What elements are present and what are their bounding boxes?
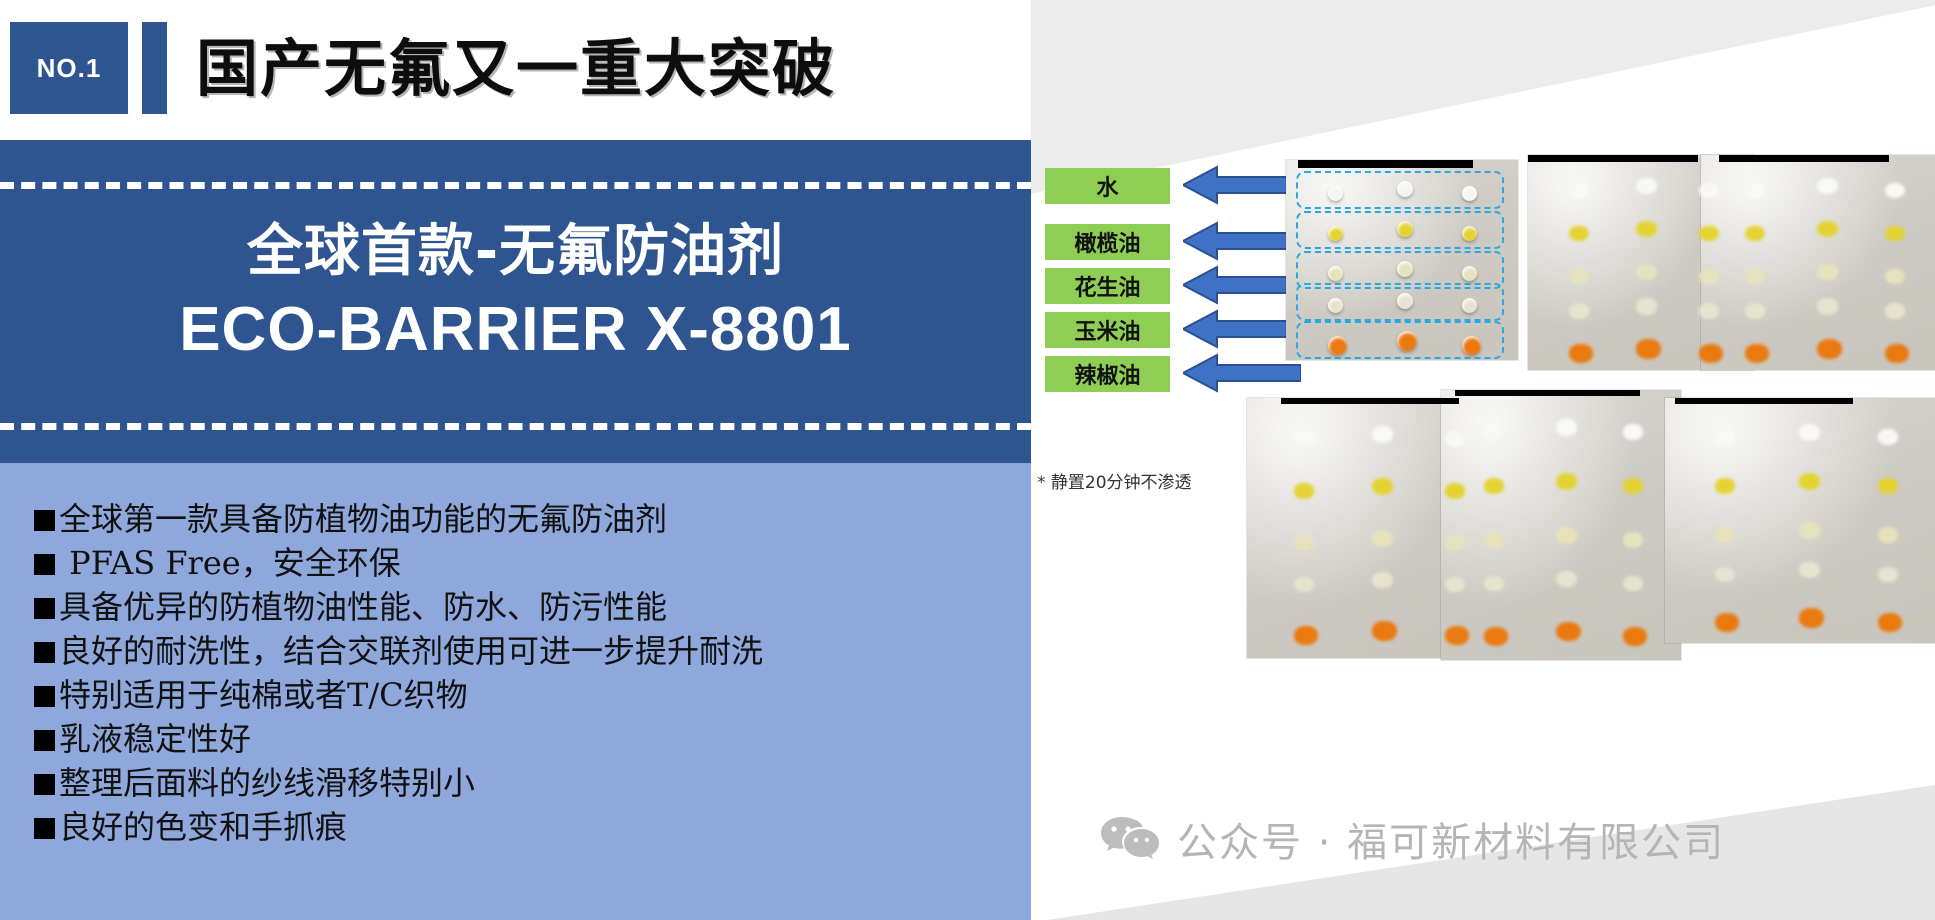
droplet: [1445, 483, 1465, 499]
droplet: [1569, 226, 1589, 242]
droplet: [1799, 522, 1820, 538]
droplet: [1715, 429, 1735, 445]
droplet: [1484, 532, 1504, 548]
test-panel-label: 市售竞品T2: [1455, 390, 1640, 396]
droplet: [1623, 532, 1643, 548]
legend-chip-label: 橄榄油: [1074, 226, 1140, 258]
droplet: [1445, 431, 1465, 447]
droplet: [1294, 431, 1314, 447]
bullet-square-icon: [34, 774, 55, 795]
droplet: [1445, 577, 1465, 593]
banner-line-2: ECO-BARRIER X-8801: [0, 290, 1031, 370]
test-panel: 市售竞品T2: [1441, 390, 1681, 660]
droplet: [1556, 571, 1577, 587]
droplet: [1636, 221, 1657, 237]
test-panel-label: 市售竞品R2: [1719, 155, 1889, 162]
features-panel: 全球第一款具备防植物油功能的无氟防油剂 PFAS Free，安全环保具备优异的防…: [0, 463, 1031, 920]
slide-header: NO.1 国产无氟又一重大突破: [0, 0, 1031, 140]
droplet: [1799, 473, 1820, 489]
test-panel: 市售竞品R2: [1701, 155, 1935, 370]
droplet: [1715, 613, 1739, 632]
test-panel: 市售竞品D1: [1665, 398, 1935, 643]
test-panel-label: 市售竞品T1: [1281, 398, 1459, 404]
highlight-box: [1296, 171, 1504, 209]
droplet: [1294, 577, 1314, 593]
feature-bullet: 良好的耐洗性，结合交联剂使用可进一步提升耐洗: [34, 629, 1014, 673]
droplet: [1294, 483, 1314, 499]
test-panel-label: 防植物油无氟: [1298, 160, 1473, 168]
legend-chip-2[interactable]: 花生油: [1045, 268, 1170, 304]
feature-bullet-label: 良好的耐洗性，结合交联剂使用可进一步提升耐洗: [59, 632, 763, 670]
droplet: [1372, 426, 1393, 442]
highlight-box: [1296, 283, 1504, 321]
droplet: [1569, 183, 1589, 199]
left-column: NO.1 国产无氟又一重大突破 全球首款-无氟防油剂 ECO-BARRIER X…: [0, 0, 1031, 920]
bullet-square-icon: [34, 686, 55, 707]
droplet: [1799, 562, 1820, 578]
droplet: [1569, 303, 1589, 319]
feature-bullet: 特别适用于纯棉或者T/C织物: [34, 673, 1014, 717]
droplet: [1745, 226, 1765, 242]
droplet: [1556, 419, 1577, 435]
droplet: [1885, 303, 1905, 319]
bullet-square-icon: [34, 818, 55, 839]
feature-bullet-label: 具备优异的防植物油性能、防水、防污性能: [59, 588, 667, 626]
droplet: [1445, 626, 1469, 645]
droplet: [1699, 269, 1719, 285]
bullet-square-icon: [34, 730, 55, 751]
droplet: [1556, 473, 1577, 489]
legend-chip-4[interactable]: 辣椒油: [1045, 356, 1170, 392]
droplet: [1878, 613, 1902, 632]
feature-bullet: 全球第一款具备防植物油功能的无氟防油剂: [34, 497, 1014, 541]
droplet: [1885, 183, 1905, 199]
legend-chip-label: 水: [1096, 170, 1118, 202]
droplet: [1817, 178, 1838, 194]
droplet: [1745, 303, 1765, 319]
droplet: [1569, 344, 1593, 363]
droplet: [1699, 344, 1723, 363]
droplet: [1636, 264, 1657, 280]
bullet-square-icon: [34, 554, 55, 575]
droplet: [1715, 478, 1735, 494]
droplet: [1817, 298, 1838, 314]
droplet: [1885, 226, 1905, 242]
droplet: [1372, 478, 1393, 494]
droplet: [1569, 269, 1589, 285]
feature-bullet-label: PFAS Free，安全环保: [59, 544, 401, 582]
droplet: [1636, 339, 1661, 359]
feature-bullet-label: 全球第一款具备防植物油功能的无氟防油剂: [59, 500, 667, 538]
droplet: [1878, 567, 1898, 583]
feature-bullet: 整理后面料的纱线滑移特别小: [34, 761, 1014, 805]
droplet: [1623, 424, 1643, 440]
legend-chip-1[interactable]: 橄榄油: [1045, 224, 1170, 260]
right-column: 水橄榄油花生油玉米油辣椒油 * 静置20分钟不渗透 防植物油无氟市售竞品R1市售…: [1031, 0, 1935, 920]
droplet: [1484, 576, 1504, 592]
droplet: [1715, 527, 1735, 543]
droplet: [1817, 264, 1838, 280]
droplet: [1623, 478, 1643, 494]
droplet: [1878, 527, 1898, 543]
footer-text: 公众号 · 福可新材料有限公司: [1177, 810, 1725, 868]
droplet: [1799, 424, 1820, 440]
legend-chip-label: 辣椒油: [1074, 358, 1140, 390]
droplet: [1484, 627, 1508, 646]
droplet: [1372, 621, 1397, 641]
droplet: [1885, 344, 1909, 363]
test-panel: 防植物油无氟: [1286, 160, 1518, 360]
footnote: * 静置20分钟不渗透: [1037, 468, 1192, 493]
legend-chip-3[interactable]: 玉米油: [1045, 312, 1170, 348]
test-panel-label: 市售竞品R1: [1528, 155, 1698, 162]
feature-bullet: 良好的色变和手抓痕: [34, 805, 1014, 849]
legend-chip-label: 玉米油: [1074, 314, 1140, 346]
droplet: [1799, 608, 1824, 628]
droplet: [1623, 627, 1647, 646]
banner-dash-bottom: [0, 423, 1031, 430]
droplet: [1699, 226, 1719, 242]
droplet: [1484, 424, 1504, 440]
feature-bullet-label: 乳液稳定性好: [59, 720, 251, 758]
legend-chip-0[interactable]: 水: [1045, 168, 1170, 204]
droplet: [1745, 269, 1765, 285]
droplet: [1445, 535, 1465, 551]
banner-line-1: 全球首款-无氟防油剂: [0, 214, 1031, 290]
droplet: [1556, 622, 1581, 642]
test-photo-grid: 防植物油无氟市售竞品R1市售竞品R2市售竞品T1市售竞品T2市售竞品D1: [1253, 0, 1935, 920]
droplet: [1372, 530, 1393, 546]
droplet: [1817, 339, 1842, 359]
product-banner: 全球首款-无氟防油剂 ECO-BARRIER X-8801: [0, 140, 1031, 463]
slide: NO.1 国产无氟又一重大突破 全球首款-无氟防油剂 ECO-BARRIER X…: [0, 0, 1935, 920]
banner-dash-top: [0, 182, 1031, 189]
droplet: [1372, 572, 1393, 588]
droplet: [1699, 183, 1719, 199]
bullet-square-icon: [34, 510, 55, 531]
droplet: [1699, 303, 1719, 319]
header-accent-bar: [142, 22, 167, 114]
feature-bullet: 具备优异的防植物油性能、防水、防污性能: [34, 585, 1014, 629]
bullet-square-icon: [34, 598, 55, 619]
feature-bullet-label: 特别适用于纯棉或者T/C织物: [59, 676, 468, 714]
feature-bullet-label: 整理后面料的纱线滑移特别小: [59, 764, 475, 802]
droplet: [1745, 183, 1765, 199]
highlight-box: [1296, 211, 1504, 249]
bullet-square-icon: [34, 642, 55, 663]
page-title: 国产无氟又一重大突破: [196, 24, 836, 114]
droplet: [1556, 527, 1577, 543]
droplet: [1636, 298, 1657, 314]
feature-bullet: PFAS Free，安全环保: [34, 541, 1014, 585]
droplet: [1636, 178, 1657, 194]
droplet: [1878, 429, 1898, 445]
legend-chip-label: 花生油: [1074, 270, 1140, 302]
droplet: [1885, 269, 1905, 285]
droplet: [1294, 535, 1314, 551]
highlight-box: [1296, 321, 1504, 359]
banner-text: 全球首款-无氟防油剂 ECO-BARRIER X-8801: [0, 214, 1031, 370]
droplet: [1878, 478, 1898, 494]
droplet: [1817, 221, 1838, 237]
droplet: [1745, 344, 1769, 363]
footer: 公众号 · 福可新材料有限公司: [1099, 810, 1725, 868]
feature-bullet-label: 良好的色变和手抓痕: [59, 808, 347, 846]
no1-badge: NO.1: [10, 22, 128, 114]
droplet: [1294, 626, 1318, 645]
test-panel-label: 市售竞品D1: [1675, 398, 1853, 404]
wechat-icon: [1099, 815, 1161, 863]
feature-bullet: 乳液稳定性好: [34, 717, 1014, 761]
feature-bullet-list: 全球第一款具备防植物油功能的无氟防油剂 PFAS Free，安全环保具备优异的防…: [34, 497, 1014, 849]
droplet: [1484, 478, 1504, 494]
